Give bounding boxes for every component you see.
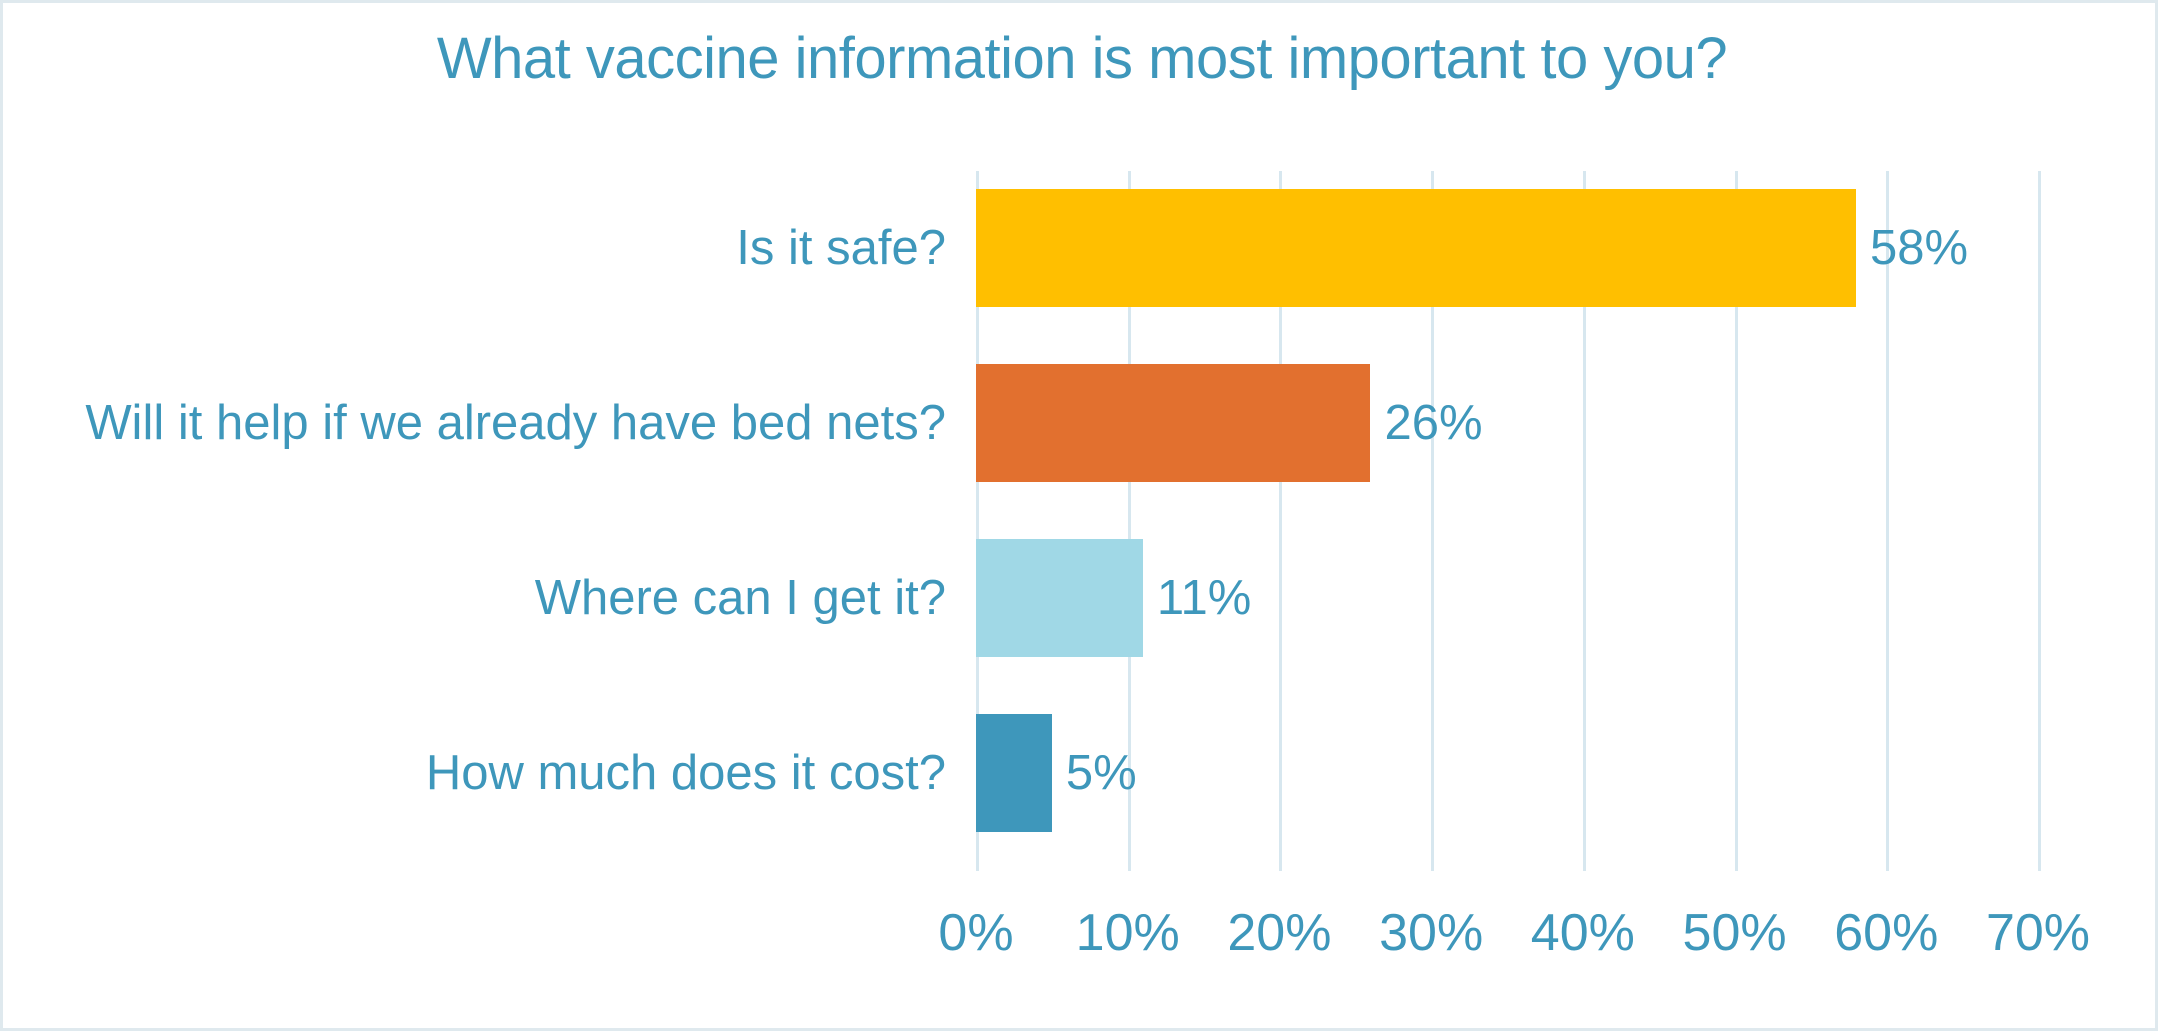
bar-1: [976, 364, 1370, 482]
bar-2: [976, 539, 1143, 657]
bar-row: 11%: [976, 521, 2038, 696]
bar-value-label-1: 26%: [1370, 364, 1482, 482]
category-label-2: Where can I get it?: [535, 539, 946, 657]
x-tick-label-70: 70%: [1986, 903, 2090, 963]
plot-area: 58% 26% 11% 5%: [976, 171, 2038, 871]
gridline-70: [2038, 171, 2041, 871]
chart-container: What vaccine information is most importa…: [0, 0, 2158, 1031]
category-label-1: Will it help if we already have bed nets…: [85, 364, 946, 482]
chart-title: What vaccine information is most importa…: [3, 25, 2158, 92]
x-tick-label-60: 60%: [1834, 903, 1938, 963]
bar-value-label-0: 58%: [1856, 189, 1968, 307]
bar-value-label-2: 11%: [1143, 539, 1251, 657]
bar-3: [976, 714, 1052, 832]
x-axis: 0%10%20%30%40%50%60%70%: [976, 903, 2038, 983]
x-tick-label-0: 0%: [938, 903, 1013, 963]
x-tick-label-20: 20%: [1227, 903, 1331, 963]
category-label-3: How much does it cost?: [426, 714, 946, 832]
bar-0: [976, 189, 1856, 307]
x-tick-label-10: 10%: [1076, 903, 1180, 963]
bar-row: 5%: [976, 696, 2038, 871]
x-tick-label-50: 50%: [1683, 903, 1787, 963]
bar-row: 26%: [976, 346, 2038, 521]
category-label-0: Is it safe?: [736, 189, 946, 307]
bar-value-label-3: 5%: [1052, 714, 1137, 832]
x-tick-label-30: 30%: [1379, 903, 1483, 963]
bar-row: 58%: [976, 171, 2038, 346]
x-tick-label-40: 40%: [1531, 903, 1635, 963]
